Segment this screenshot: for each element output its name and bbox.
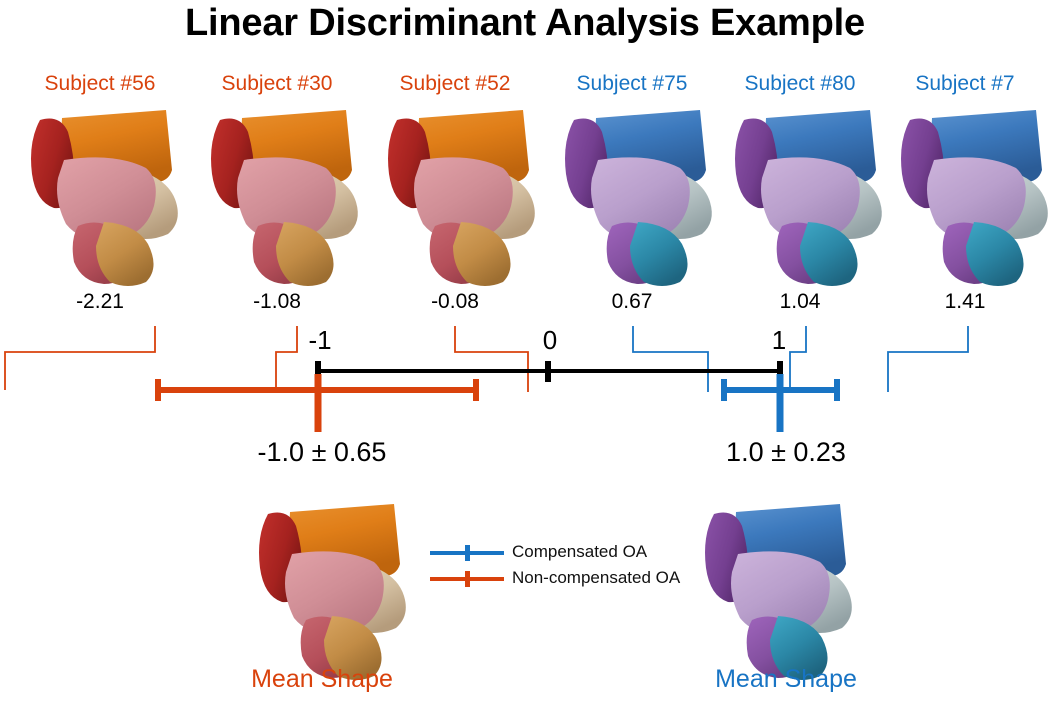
axis-tick-label-0: 0 bbox=[543, 325, 557, 356]
connector-subject-56 bbox=[5, 326, 155, 390]
connector-group-orange bbox=[5, 326, 528, 392]
connector-group-blue bbox=[633, 326, 968, 392]
score-subject-80: 1.04 bbox=[780, 290, 821, 314]
axis-tick-label-1: 1 bbox=[772, 325, 786, 356]
vertebra-shape-subject-52 bbox=[388, 110, 535, 286]
mean-shape-compensated bbox=[705, 504, 852, 680]
score-subject-56: -2.21 bbox=[76, 290, 124, 314]
vertebra-shape-subject-7 bbox=[901, 110, 1048, 286]
legend-item-compensated: Compensated OA bbox=[430, 540, 690, 566]
group-stat-compensated: 1.0 ± 0.23 bbox=[726, 437, 846, 468]
shape-layer bbox=[0, 0, 1050, 709]
legend-label-compensated: Compensated OA bbox=[512, 542, 647, 562]
connector-subject-7 bbox=[888, 326, 968, 392]
errorbar-compensated bbox=[723, 374, 838, 432]
connector-subject-52 bbox=[455, 326, 528, 392]
vertebra-shape-subject-80 bbox=[735, 110, 882, 286]
vertebra-shape-subject-75 bbox=[565, 110, 712, 286]
mean-shape-label-non-compensated: Mean Shape bbox=[251, 665, 393, 694]
score-subject-30: -1.08 bbox=[253, 290, 301, 314]
mean-shape-non-compensated bbox=[259, 504, 406, 680]
axis-tick-label--1: -1 bbox=[308, 325, 331, 356]
connector-subject-30 bbox=[276, 326, 297, 392]
group-stat-non-compensated: -1.0 ± 0.65 bbox=[258, 437, 387, 468]
discriminant-axis bbox=[318, 361, 780, 382]
legend-marker-compensated bbox=[430, 551, 504, 555]
legend-item-non-compensated: Non-compensated OA bbox=[430, 566, 690, 592]
legend: Compensated OA Non-compensated OA bbox=[430, 540, 690, 596]
legend-marker-non-compensated bbox=[430, 577, 504, 581]
connector-subject-80 bbox=[790, 326, 806, 392]
score-subject-75: 0.67 bbox=[612, 290, 653, 314]
legend-label-non-compensated: Non-compensated OA bbox=[512, 568, 680, 588]
figure-canvas: Linear Discriminant Analysis Example Sub… bbox=[0, 0, 1050, 709]
score-subject-7: 1.41 bbox=[945, 290, 986, 314]
mean-shape-label-compensated: Mean Shape bbox=[715, 665, 857, 694]
vertebra-shape-subject-30 bbox=[211, 110, 358, 286]
score-subject-52: -0.08 bbox=[431, 290, 479, 314]
vertebra-shape-subject-56 bbox=[31, 110, 178, 286]
connector-subject-75 bbox=[633, 326, 708, 392]
errorbar-non-compensated bbox=[157, 374, 477, 432]
